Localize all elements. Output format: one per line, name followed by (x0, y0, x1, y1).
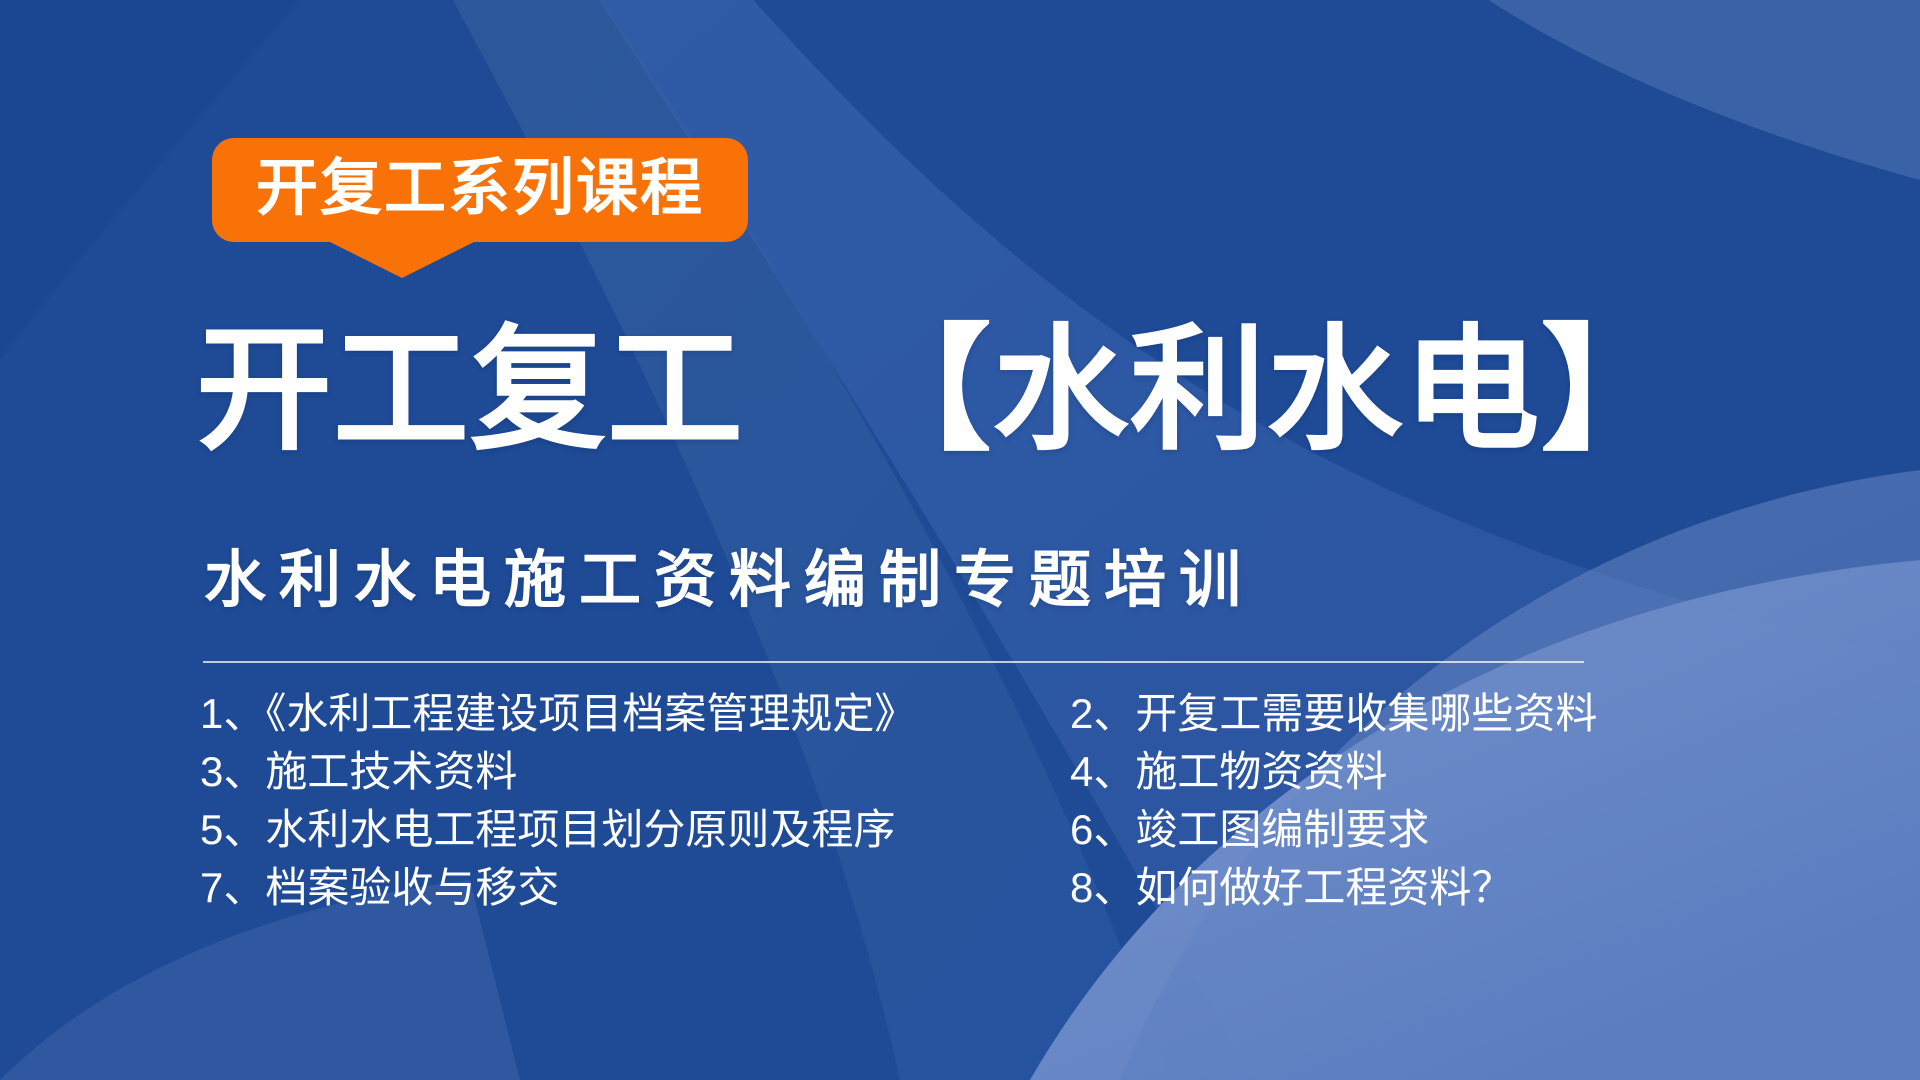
page-title: 开工复工 【水利水电】 (196, 322, 1678, 458)
badge-body: 开复工系列课程 (212, 138, 748, 242)
course-series-badge: 开复工系列课程 (212, 138, 748, 242)
topic-label: 2、开复工需要收集哪些资料 (1070, 685, 1720, 743)
list-item: 3、施工技术资料 4、施工物资资料 (200, 743, 1720, 801)
topic-label: 4、施工物资资料 (1070, 743, 1720, 801)
topic-label: 5、水利水电工程项目划分原则及程序 (200, 801, 1070, 859)
divider (203, 661, 1584, 663)
topics-list: 1、《水利工程建设项目档案管理规定》 2、开复工需要收集哪些资料 3、施工技术资… (200, 685, 1720, 917)
topic-label: 3、施工技术资料 (200, 743, 1070, 801)
badge-label: 开复工系列课程 (256, 158, 704, 220)
promo-poster: 开复工系列课程 开工复工 【水利水电】 水利水电施工资料编制专题培训 1、《水利… (0, 0, 1920, 1080)
page-title-part1: 开工复工 (196, 314, 744, 466)
topic-label: 1、《水利工程建设项目档案管理规定》 (200, 685, 1070, 743)
topic-label: 7、档案验收与移交 (200, 859, 1070, 917)
list-item: 1、《水利工程建设项目档案管理规定》 2、开复工需要收集哪些资料 (200, 685, 1720, 743)
topic-label: 8、如何做好工程资料？ (1070, 859, 1720, 917)
list-item: 7、档案验收与移交 8、如何做好工程资料？ (200, 859, 1720, 917)
page-subtitle: 水利水电施工资料编制专题培训 (204, 550, 1254, 612)
page-title-part2: 【水利水电】 (856, 314, 1678, 466)
speech-bubble-tail-icon (328, 241, 476, 278)
topic-label: 6、竣工图编制要求 (1070, 801, 1720, 859)
list-item: 5、水利水电工程项目划分原则及程序 6、竣工图编制要求 (200, 801, 1720, 859)
